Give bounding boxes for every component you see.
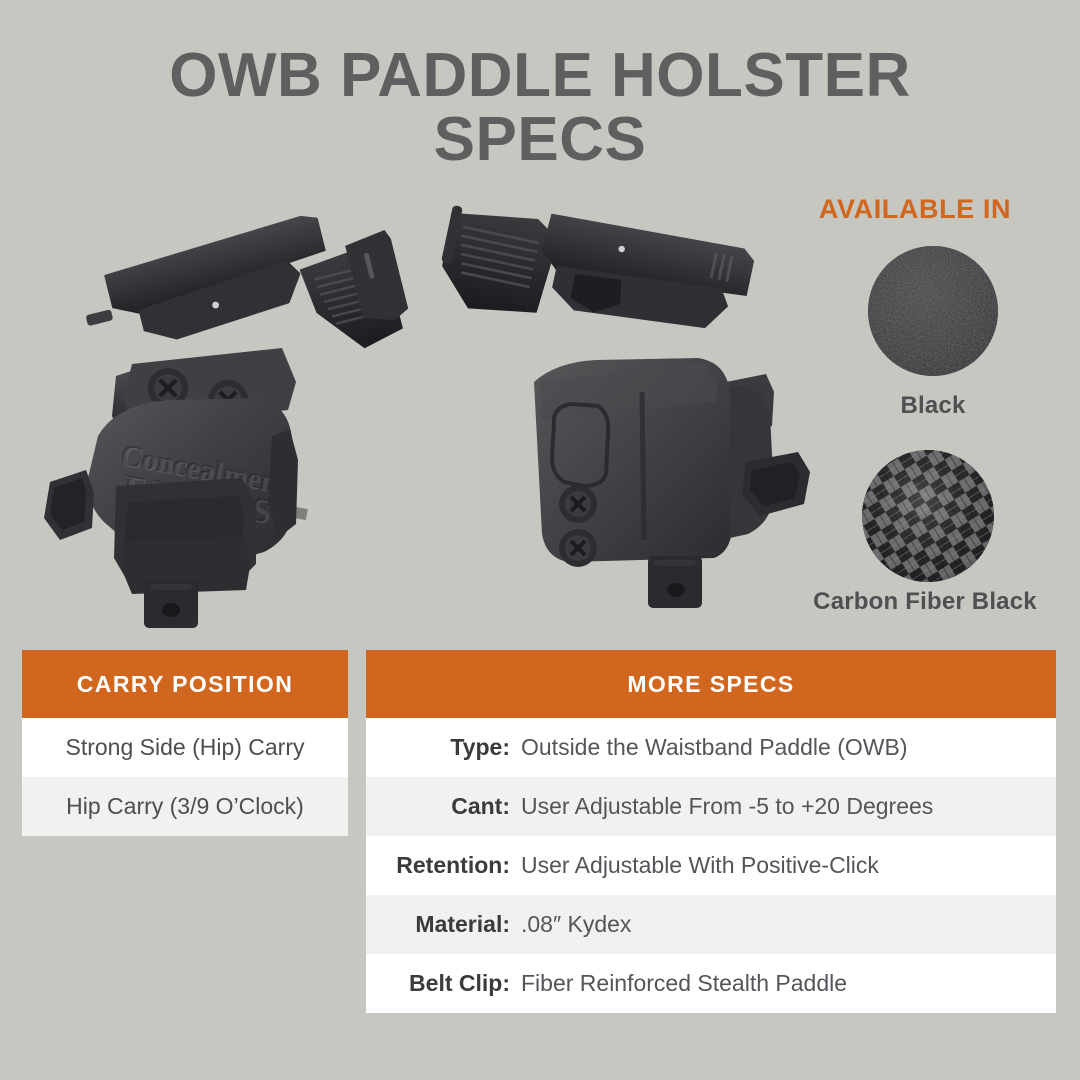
more-specs-header: MORE SPECS (366, 650, 1056, 718)
spec-label: Material: (366, 911, 521, 938)
swatch-label-black: Black (830, 392, 1036, 420)
holster-rear-view-image (430, 186, 830, 635)
table-row: Type: Outside the Waistband Paddle (OWB) (366, 718, 1056, 777)
table-row: Belt Clip: Fiber Reinforced Stealth Padd… (366, 954, 1056, 1013)
page-title: OWB PADDLE HOLSTER SPECS (0, 44, 1080, 172)
product-image-group: Concealment EXPRESS Concealment EXPRESS (0, 186, 790, 630)
more-specs-table: MORE SPECS Type: Outside the Waistband P… (366, 650, 1056, 1013)
table-row: Material: .08″ Kydex (366, 895, 1056, 954)
carry-position-table: CARRY POSITION Strong Side (Hip) Carry H… (22, 650, 348, 836)
carbon-fiber-texture-swatch[interactable] (862, 450, 994, 582)
table-row: Retention: User Adjustable With Positive… (366, 836, 1056, 895)
spec-label: Retention: (366, 852, 521, 879)
spec-value: Fiber Reinforced Stealth Paddle (521, 970, 847, 997)
swatch-label-carbon-fiber-black: Carbon Fiber Black (770, 588, 1080, 616)
spec-label: Belt Clip: (366, 970, 521, 997)
black-texture-swatch[interactable] (868, 246, 998, 376)
carry-position-value: Hip Carry (3/9 O’Clock) (22, 793, 348, 820)
carry-position-value: Strong Side (Hip) Carry (22, 734, 348, 761)
spec-value: Outside the Waistband Paddle (OWB) (521, 734, 908, 761)
spec-value: .08″ Kydex (521, 911, 631, 938)
spec-label: Type: (366, 734, 521, 761)
available-in-heading: AVAILABLE IN (760, 194, 1070, 225)
carry-position-header: CARRY POSITION (22, 650, 348, 718)
table-row: Strong Side (Hip) Carry (22, 718, 348, 777)
table-row: Hip Carry (3/9 O’Clock) (22, 777, 348, 836)
spec-value: User Adjustable With Positive-Click (521, 852, 879, 879)
holster-front-view-image: Concealment EXPRESS Concealment EXPRESS (20, 186, 420, 635)
spec-label: Cant: (366, 793, 521, 820)
spec-value: User Adjustable From -5 to +20 Degrees (521, 793, 933, 820)
table-row: Cant: User Adjustable From -5 to +20 Deg… (366, 777, 1056, 836)
